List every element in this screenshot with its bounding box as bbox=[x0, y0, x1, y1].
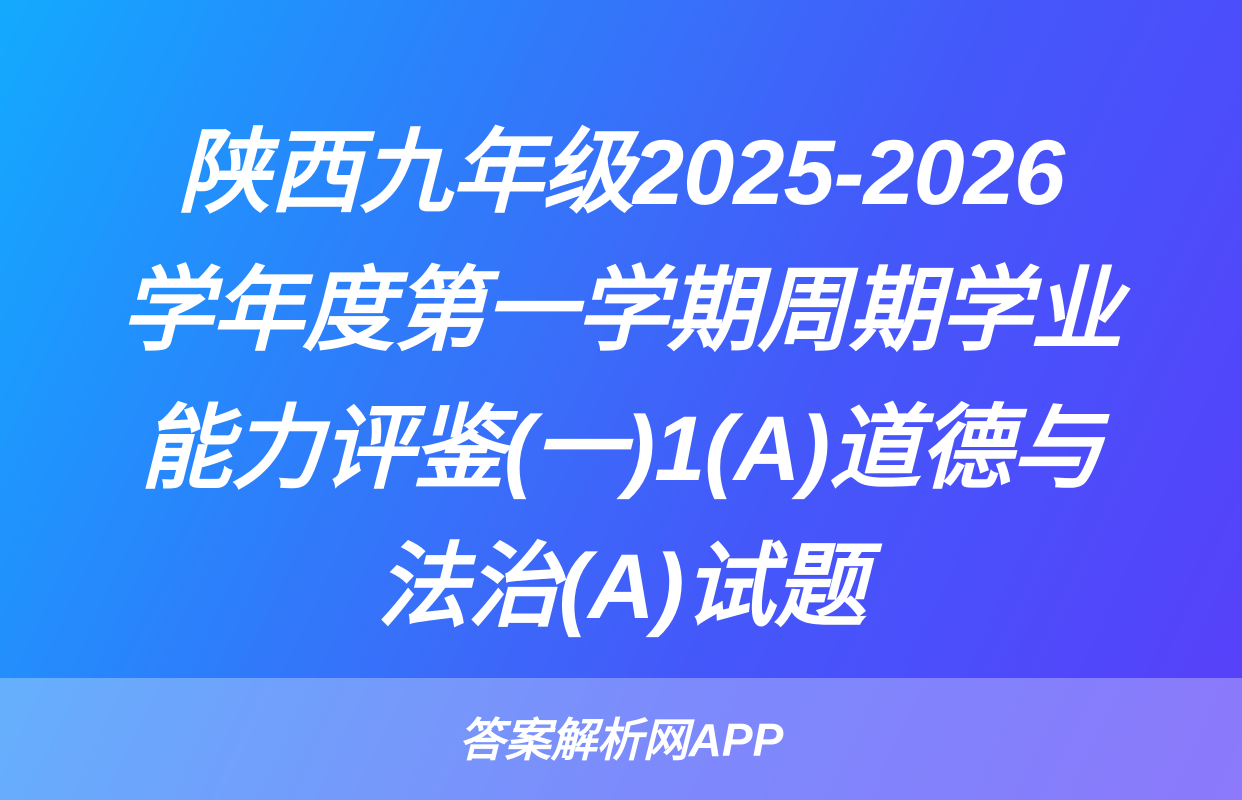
title-line-4: 法治(A)试题 bbox=[54, 518, 1188, 656]
title-line-2: 学年度第一学期周期学业 bbox=[54, 242, 1188, 380]
exam-title-banner: 陕西九年级2025-2026 学年度第一学期周期学业 能力评鉴(一)1(A)道德… bbox=[0, 0, 1242, 800]
page-title: 陕西九年级2025-2026 学年度第一学期周期学业 能力评鉴(一)1(A)道德… bbox=[0, 104, 1242, 656]
watermark-text: 答案解析网APP bbox=[459, 717, 784, 763]
title-line-3: 能力评鉴(一)1(A)道德与 bbox=[54, 380, 1188, 518]
title-line-1: 陕西九年级2025-2026 bbox=[54, 104, 1188, 242]
watermark-band: 答案解析网APP bbox=[0, 678, 1242, 800]
